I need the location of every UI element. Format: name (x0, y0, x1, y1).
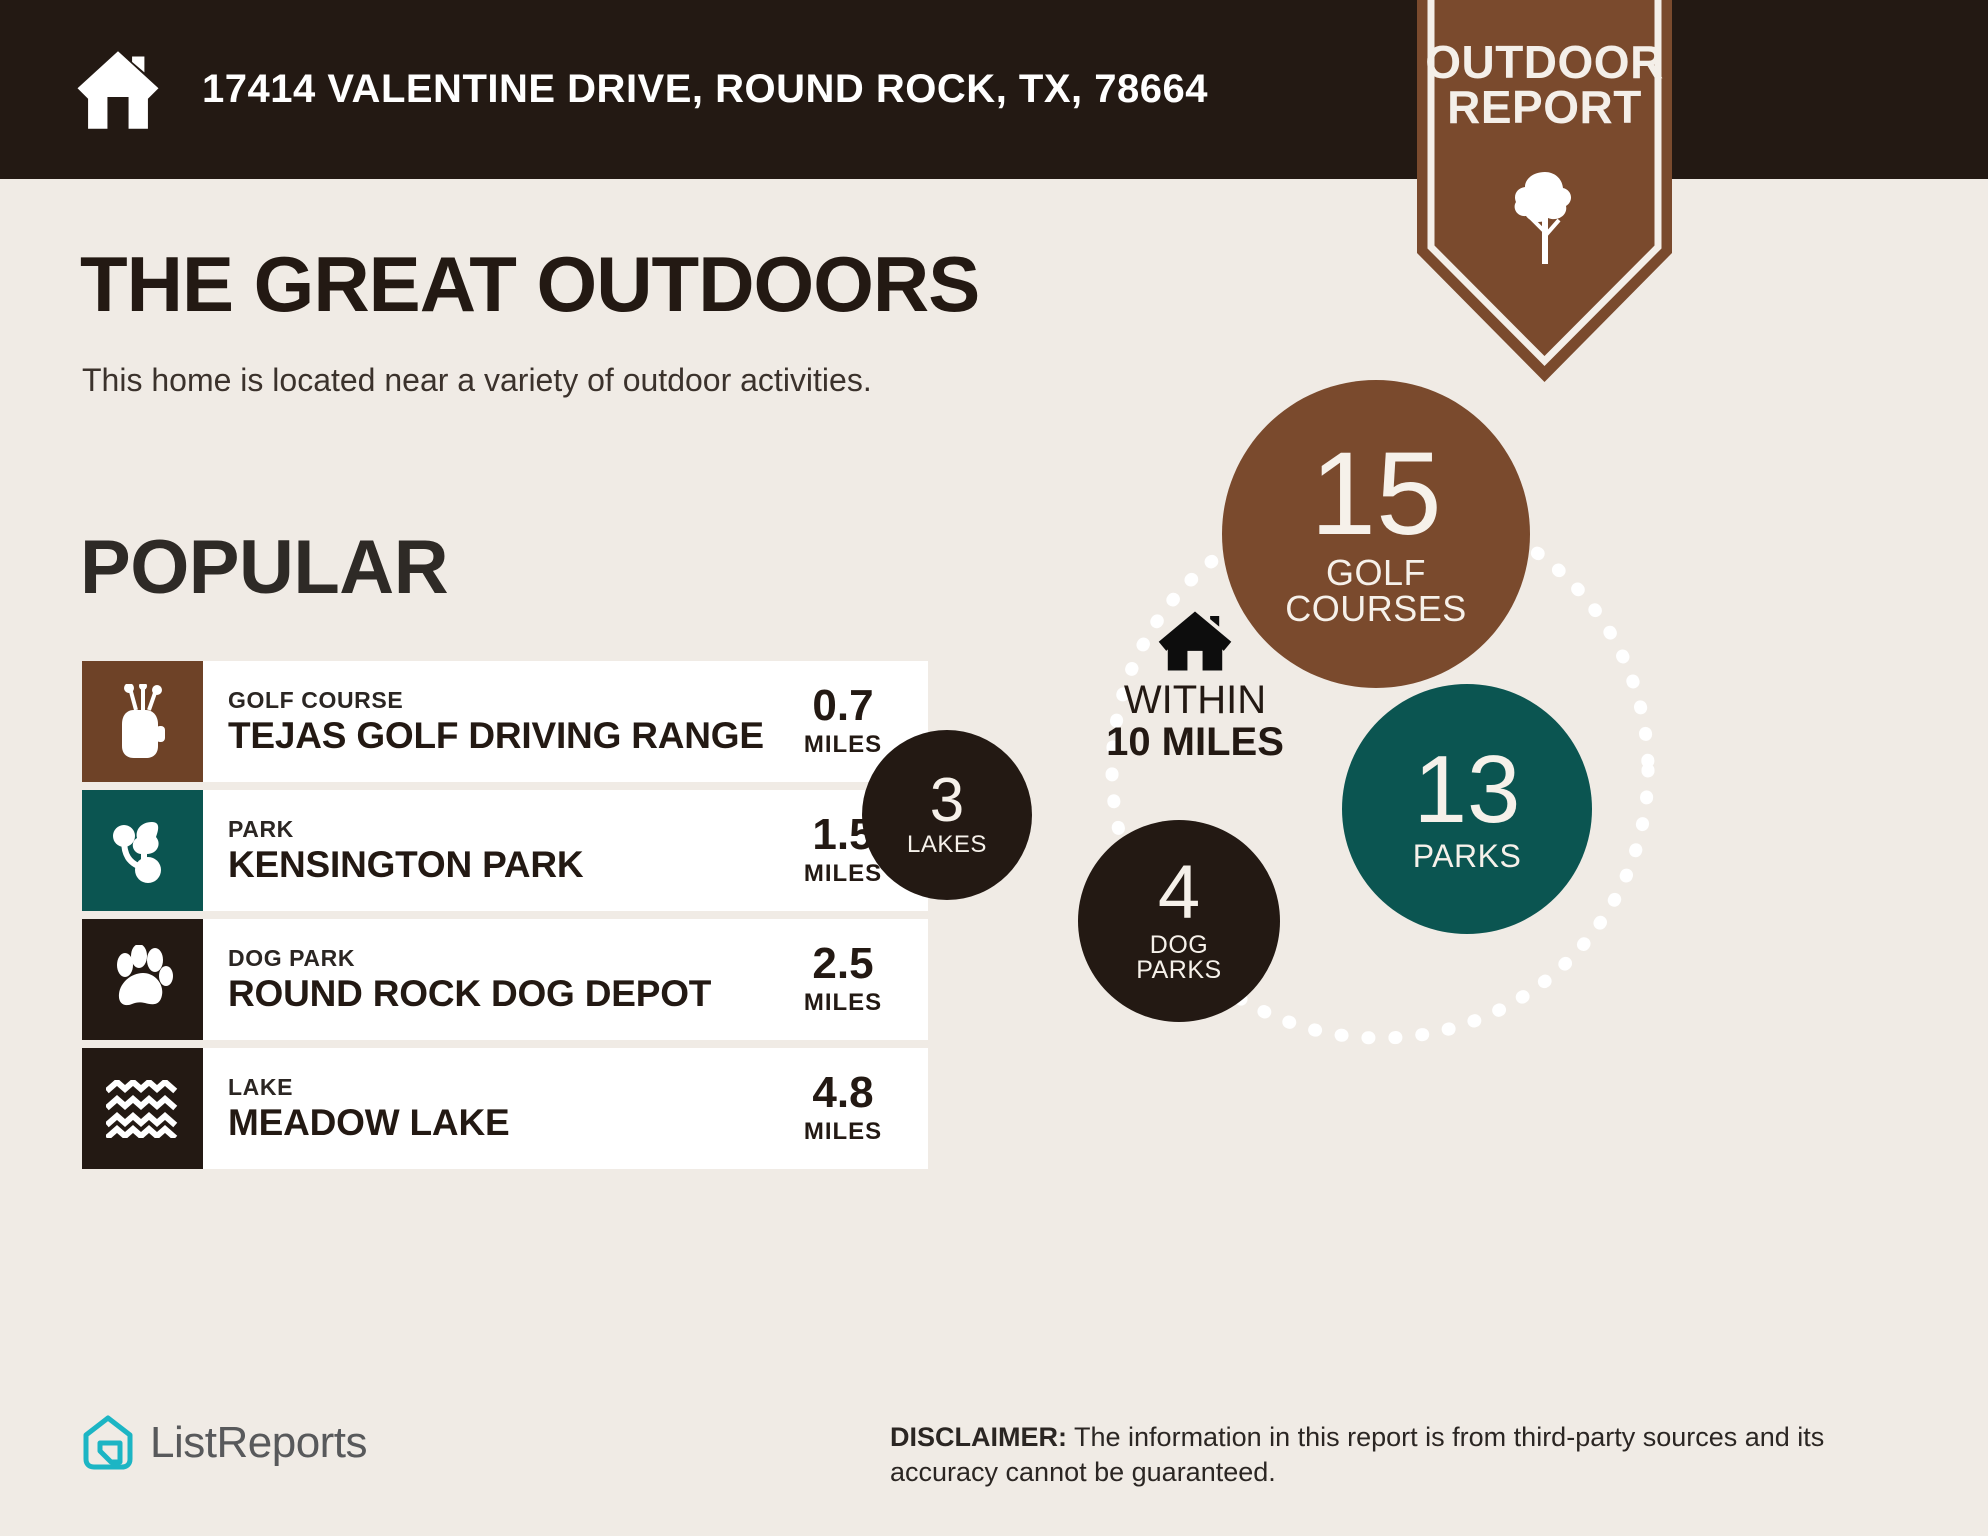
list-item-name: ROUND ROCK DOG DEPOT (228, 974, 774, 1013)
list-item-name: MEADOW LAKE (228, 1103, 774, 1142)
list-item-category: LAKE (228, 1075, 774, 1100)
listreports-house-pen-icon (82, 1415, 134, 1471)
distance-unit: MILES (804, 1118, 882, 1146)
disclaimer-label: DISCLAIMER: (890, 1422, 1067, 1452)
chart-center-label: WITHIN 10 MILES (1050, 610, 1340, 763)
distance-value: 2.5 (812, 942, 873, 986)
bubble-label-line-1: DOG (1136, 933, 1221, 959)
distance-unit: MILES (804, 989, 882, 1017)
list-item-texts: PARK KENSINGTON PARK (203, 817, 774, 884)
center-label-line-1: WITHIN (1050, 680, 1340, 721)
list-item-distance: 2.5 MILES (774, 942, 928, 1017)
page-subtitle: This home is located near a variety of o… (82, 362, 872, 399)
list-item[interactable]: LAKE MEADOW LAKE 4.8 MILES (82, 1048, 928, 1169)
park-trees-icon (108, 816, 178, 886)
page-title: THE GREAT OUTDOORS (80, 245, 979, 323)
center-label-line-2: 10 MILES (1050, 721, 1340, 763)
listreports-logo: ListReports (82, 1415, 367, 1471)
water-waves-icon (106, 1080, 180, 1138)
list-item-category: PARK (228, 817, 774, 842)
list-item[interactable]: GOLF COURSE TEJAS GOLF DRIVING RANGE 0.7… (82, 661, 928, 782)
list-item-texts: DOG PARK ROUND ROCK DOG DEPOT (203, 946, 774, 1013)
bubble-lakes: 3 LAKES (862, 730, 1032, 900)
badge-line-1: OUTDOOR (1417, 40, 1672, 85)
section-heading-popular: POPULAR (80, 530, 448, 606)
bubble-label-line-1: GOLF (1285, 555, 1467, 592)
bubble-parks: 13 PARKS (1342, 684, 1592, 934)
list-item-texts: GOLF COURSE TEJAS GOLF DRIVING RANGE (203, 688, 774, 755)
badge-line-2: REPORT (1417, 85, 1672, 130)
bubble-label: PARKS (1413, 840, 1522, 873)
distance-value: 4.8 (812, 1071, 873, 1115)
list-item-body: PARK KENSINGTON PARK 1.5 MILES (203, 790, 928, 911)
list-item-icon-tile (82, 1048, 203, 1169)
bubble-count: 13 (1414, 746, 1521, 834)
list-item-body: GOLF COURSE TEJAS GOLF DRIVING RANGE 0.7… (203, 661, 928, 782)
list-item-icon-tile (82, 661, 203, 782)
bubble-count: 15 (1310, 440, 1441, 549)
list-item-category: DOG PARK (228, 946, 774, 971)
distance-value: 0.7 (812, 684, 873, 728)
logo-text: ListReports (150, 1418, 367, 1468)
home-icon (74, 46, 162, 134)
distance-unit: MILES (804, 731, 882, 759)
bubble-count: 4 (1158, 858, 1200, 928)
distance-unit: MILES (804, 860, 882, 888)
bubble-label: LAKES (907, 833, 987, 857)
list-item[interactable]: DOG PARK ROUND ROCK DOG DEPOT 2.5 MILES (82, 919, 928, 1040)
bubble-dog-parks: 4 DOG PARKS (1078, 820, 1280, 1022)
popular-list: GOLF COURSE TEJAS GOLF DRIVING RANGE 0.7… (82, 661, 928, 1177)
paw-print-icon (109, 945, 177, 1015)
header-bar: 17414 VALENTINE DRIVE, ROUND ROCK, TX, 7… (0, 0, 1988, 179)
bubble-count: 3 (930, 772, 964, 829)
list-item-texts: LAKE MEADOW LAKE (203, 1075, 774, 1142)
golf-bag-icon (112, 684, 174, 760)
list-item-body: LAKE MEADOW LAKE 4.8 MILES (203, 1048, 928, 1169)
bubble-label-line-2: PARKS (1136, 958, 1221, 984)
disclaimer: DISCLAIMER: The information in this repo… (890, 1420, 1930, 1489)
list-item[interactable]: PARK KENSINGTON PARK 1.5 MILES (82, 790, 928, 911)
list-item-distance: 4.8 MILES (774, 1071, 928, 1146)
outdoor-report-badge: OUTDOOR REPORT (1417, 0, 1672, 382)
list-item-name: KENSINGTON PARK (228, 845, 774, 884)
bubble-label: DOG PARKS (1136, 933, 1221, 984)
list-item-name: TEJAS GOLF DRIVING RANGE (228, 716, 774, 755)
home-icon (1157, 610, 1233, 672)
list-item-icon-tile (82, 790, 203, 911)
badge-title: OUTDOOR REPORT (1417, 40, 1672, 129)
property-address: 17414 VALENTINE DRIVE, ROUND ROCK, TX, 7… (202, 67, 1208, 112)
list-item-icon-tile (82, 919, 203, 1040)
list-item-category: GOLF COURSE (228, 688, 774, 713)
list-item-body: DOG PARK ROUND ROCK DOG DEPOT 2.5 MILES (203, 919, 928, 1040)
within-10-miles-chart: 15 GOLF COURSES 13 PARKS 4 DOG PARKS 3 L… (1060, 440, 1988, 1300)
